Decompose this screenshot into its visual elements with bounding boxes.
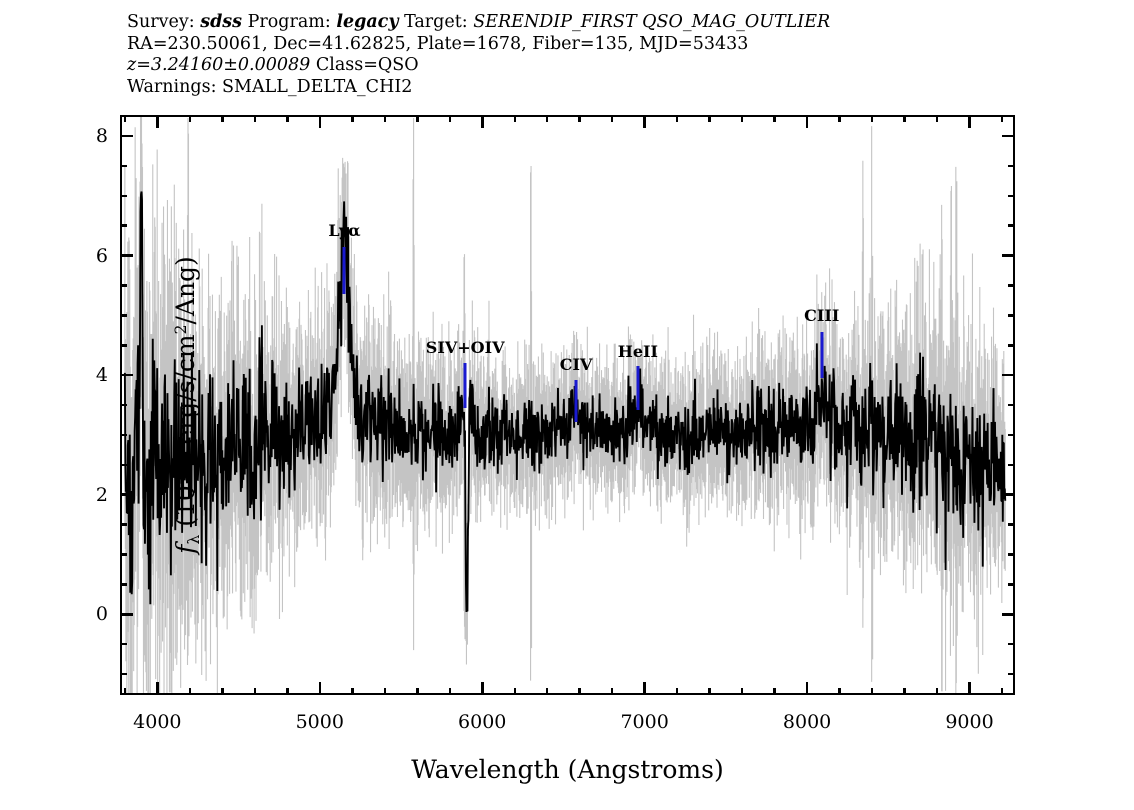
y-minor-tick-right [1008, 165, 1015, 168]
x-minor-tick [903, 688, 906, 695]
y-minor-tick-right [1008, 284, 1015, 287]
x-minor-tick-top [741, 115, 744, 122]
header-line-survey: Survey: sdss Program: legacy Target: SER… [127, 12, 1027, 34]
x-minor-tick [384, 688, 387, 695]
y-major-tick-right [1002, 374, 1015, 377]
x-minor-tick-top [254, 115, 257, 122]
y-minor-tick [120, 404, 127, 407]
y-minor-tick [120, 523, 127, 526]
x-major-tick [643, 682, 646, 695]
x-minor-tick [708, 688, 711, 695]
y-minor-tick-right [1008, 195, 1015, 198]
x-tick-label: 8000 [767, 711, 847, 733]
x-tick-label: 4000 [117, 711, 197, 733]
x-minor-tick [676, 688, 679, 695]
y-tick-label: 4 [68, 364, 108, 386]
y-minor-tick [120, 314, 127, 317]
y-minor-tick-right [1008, 553, 1015, 556]
y-major-tick-right [1002, 135, 1015, 138]
x-minor-tick-top [351, 115, 354, 122]
x-minor-tick [124, 688, 127, 695]
x-minor-tick [449, 688, 452, 695]
y-minor-tick [120, 195, 127, 198]
header-line-warnings: Warnings: SMALL_DELTA_CHI2 [127, 77, 1027, 99]
x-minor-tick [221, 688, 224, 695]
x-minor-tick-top [286, 115, 289, 122]
spectrum-plot: 02468 400050006000700080009000 LyαSIV+OI… [120, 115, 1015, 695]
emission-line-marker-ciii [820, 332, 823, 378]
y-minor-tick [120, 583, 127, 586]
y-minor-tick [120, 673, 127, 676]
x-minor-tick [773, 688, 776, 695]
x-minor-tick [611, 688, 614, 695]
x-minor-tick-top [936, 115, 939, 122]
y-minor-tick [120, 165, 127, 168]
y-minor-tick [120, 553, 127, 556]
x-major-tick-top [156, 115, 159, 128]
x-minor-tick-top [384, 115, 387, 122]
x-tick-label: 6000 [442, 711, 522, 733]
x-minor-tick-top [903, 115, 906, 122]
y-minor-tick [120, 344, 127, 347]
x-minor-tick [416, 688, 419, 695]
x-tick-label: 9000 [930, 711, 1010, 733]
y-minor-tick-right [1008, 464, 1015, 467]
target-prefix-label: Target: [399, 12, 474, 32]
target-value: SERENDIP_FIRST QSO_MAG_OUTLIER [473, 12, 830, 32]
x-tick-label: 7000 [605, 711, 685, 733]
x-minor-tick [838, 688, 841, 695]
y-minor-tick-right [1008, 643, 1015, 646]
x-minor-tick [286, 688, 289, 695]
y-minor-tick-right [1008, 224, 1015, 227]
x-minor-tick-top [189, 115, 192, 122]
x-minor-tick-top [708, 115, 711, 122]
y-major-tick-right [1002, 493, 1015, 496]
x-major-tick-top [319, 115, 322, 128]
x-major-tick [968, 682, 971, 695]
emission-line-marker-heii [636, 366, 639, 410]
x-minor-tick [871, 688, 874, 695]
y-major-tick [120, 374, 133, 377]
redshift-value: z=3.24160±0.00089 [127, 55, 310, 75]
y-minor-tick-right [1008, 314, 1015, 317]
emission-line-label: HeII [618, 342, 658, 361]
x-minor-tick-top [578, 115, 581, 122]
x-major-tick [156, 682, 159, 695]
x-major-tick-top [481, 115, 484, 128]
y-major-tick [120, 493, 133, 496]
x-minor-tick [741, 688, 744, 695]
x-minor-tick [254, 688, 257, 695]
emission-line-label: SIV+OIV [426, 338, 505, 357]
y-major-tick [120, 135, 133, 138]
program-prefix-label: Program: [242, 12, 336, 32]
y-tick-label: 2 [68, 484, 108, 506]
x-minor-tick-top [514, 115, 517, 122]
x-minor-tick-top [611, 115, 614, 122]
y-tick-label: 0 [68, 603, 108, 625]
x-minor-tick [578, 688, 581, 695]
y-axis-title: fλ (10−17 erg/s/cm2/Ang) [171, 256, 203, 554]
plot-frame [120, 115, 1015, 695]
y-minor-tick [120, 284, 127, 287]
y-minor-tick [120, 464, 127, 467]
x-minor-tick [1001, 688, 1004, 695]
x-major-tick [806, 682, 809, 695]
y-major-tick-right [1002, 613, 1015, 616]
y-tick-label: 6 [68, 245, 108, 267]
x-minor-tick-top [838, 115, 841, 122]
y-minor-tick [120, 643, 127, 646]
y-minor-tick-right [1008, 404, 1015, 407]
y-minor-tick-right [1008, 583, 1015, 586]
x-major-tick-top [806, 115, 809, 128]
x-minor-tick [351, 688, 354, 695]
x-minor-tick-top [773, 115, 776, 122]
x-major-tick [481, 682, 484, 695]
x-minor-tick [546, 688, 549, 695]
y-major-tick [120, 254, 133, 257]
class-value: Class=QSO [310, 55, 418, 75]
x-minor-tick-top [416, 115, 419, 122]
y-tick-label: 8 [68, 125, 108, 147]
emission-line-marker-civ [575, 380, 578, 422]
y-major-tick [120, 613, 133, 616]
emission-line-marker-ly [343, 247, 346, 295]
header-line-redshift: z=3.24160±0.00089 Class=QSO [127, 55, 1027, 77]
x-minor-tick [189, 688, 192, 695]
x-minor-tick-top [871, 115, 874, 122]
y-minor-tick [120, 224, 127, 227]
emission-line-label: Lyα [328, 221, 360, 240]
y-minor-tick-right [1008, 434, 1015, 437]
x-minor-tick [514, 688, 517, 695]
y-minor-tick-right [1008, 673, 1015, 676]
emission-line-label: CIV [560, 355, 593, 374]
survey-value: sdss [200, 12, 242, 32]
x-tick-label: 5000 [280, 711, 360, 733]
x-minor-tick-top [124, 115, 127, 122]
spectrum-metadata-header: Survey: sdss Program: legacy Target: SER… [127, 12, 1027, 98]
y-minor-tick [120, 434, 127, 437]
x-minor-tick-top [221, 115, 224, 122]
x-major-tick [319, 682, 322, 695]
x-major-tick-top [643, 115, 646, 128]
y-major-tick-right [1002, 254, 1015, 257]
y-minor-tick-right [1008, 523, 1015, 526]
y-minor-tick-right [1008, 344, 1015, 347]
x-minor-tick [936, 688, 939, 695]
x-major-tick-top [968, 115, 971, 128]
x-minor-tick-top [676, 115, 679, 122]
header-line-coords: RA=230.50061, Dec=41.62825, Plate=1678, … [127, 34, 1027, 56]
x-axis-title: Wavelength (Angstroms) [411, 755, 723, 784]
emission-line-label: CIII [804, 306, 839, 325]
x-minor-tick-top [449, 115, 452, 122]
survey-prefix-label: Survey: [127, 12, 200, 32]
program-value: legacy [336, 12, 398, 32]
emission-line-marker-sivoiv [464, 363, 467, 408]
x-minor-tick-top [546, 115, 549, 122]
x-minor-tick-top [1001, 115, 1004, 122]
